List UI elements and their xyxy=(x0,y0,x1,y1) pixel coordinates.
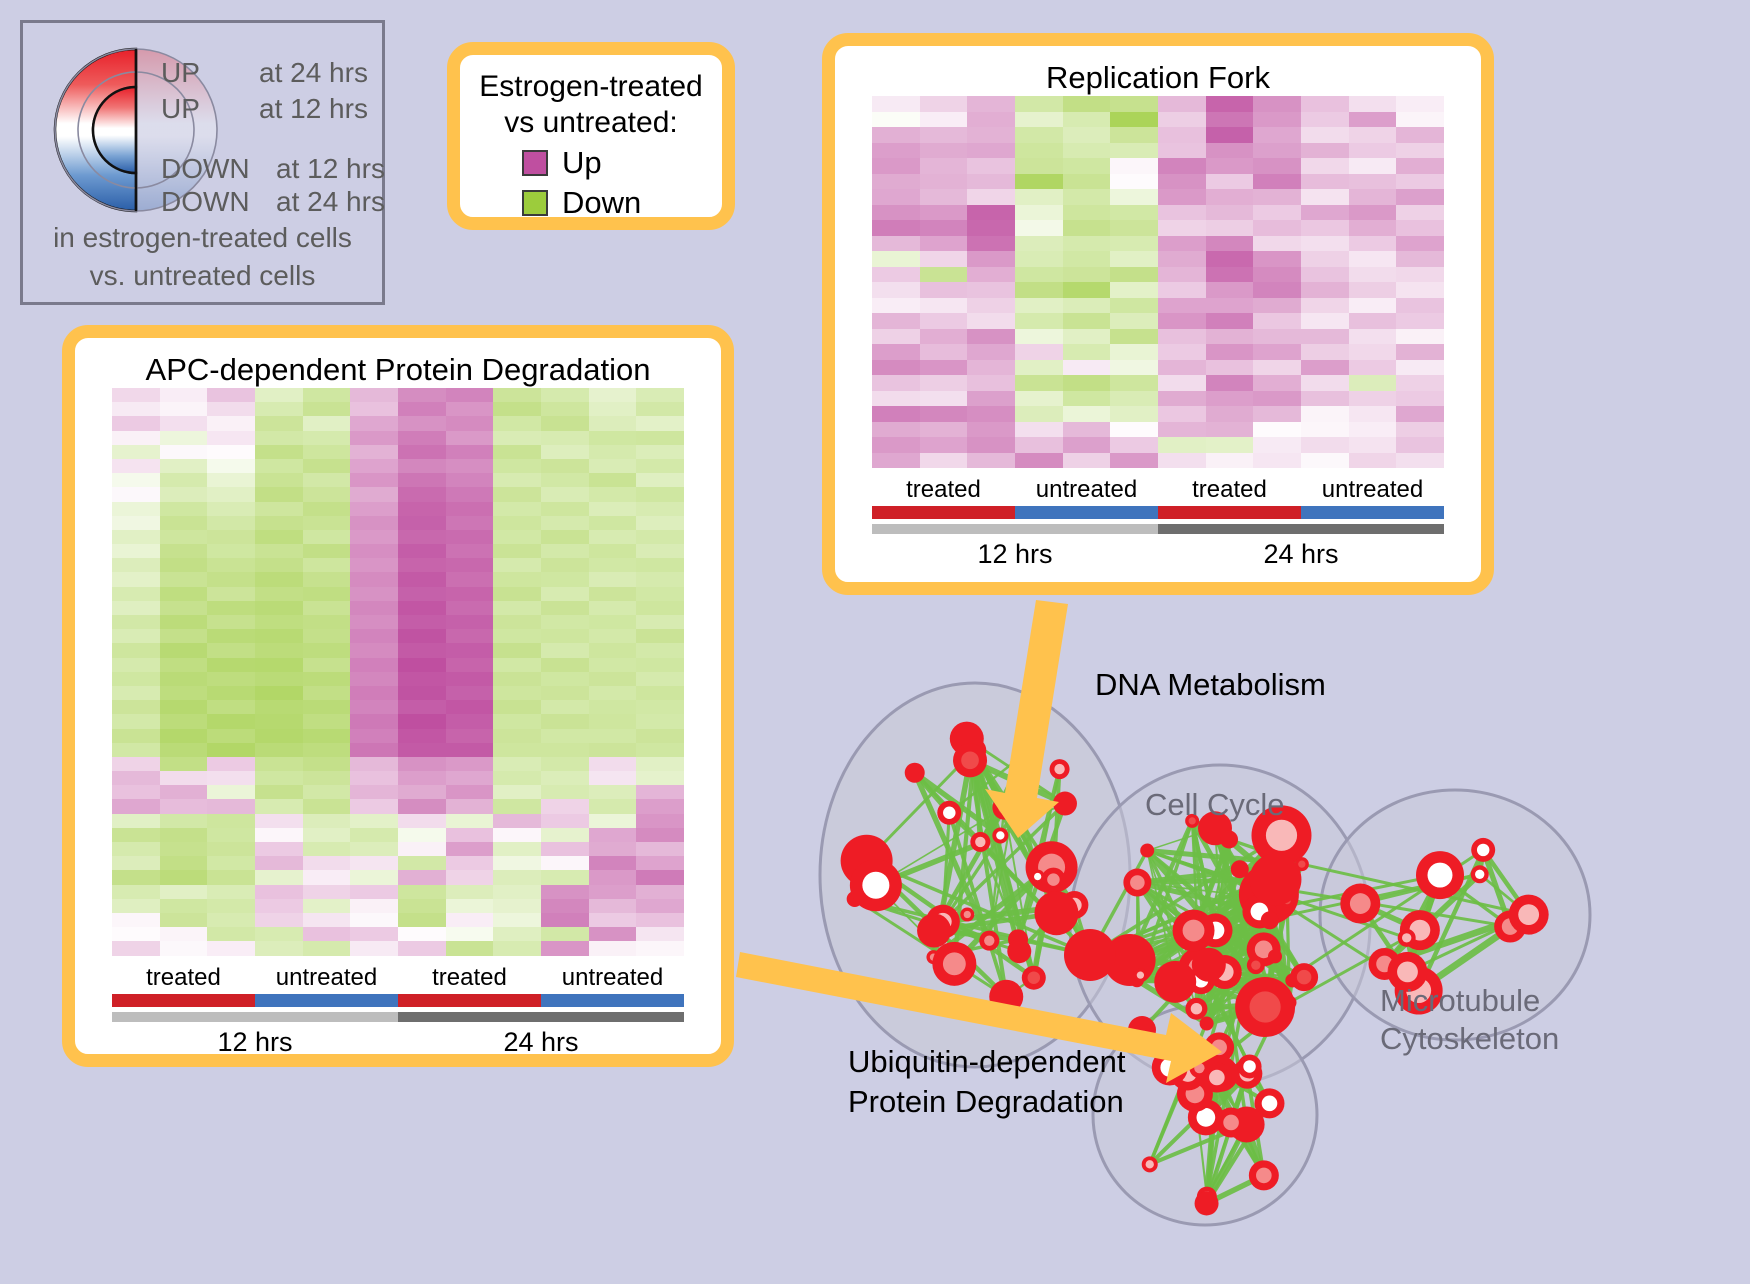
group-label: treated xyxy=(872,476,1015,504)
network-node xyxy=(1200,1017,1214,1031)
heatmap-cell xyxy=(1158,453,1206,469)
heatmap-cell xyxy=(303,799,351,813)
heatmap-cell xyxy=(589,530,637,544)
heatmap-cell xyxy=(255,658,303,672)
treatment-bar-apc xyxy=(112,994,684,1007)
heatmap-cell xyxy=(303,502,351,516)
heatmap-cell xyxy=(493,643,541,657)
heatmap-cell xyxy=(493,856,541,870)
heatmap-cell xyxy=(446,473,494,487)
heatmap-cell xyxy=(446,445,494,459)
heatmap-cell xyxy=(541,771,589,785)
heatmap-cell xyxy=(1063,143,1111,159)
heatmap-cell xyxy=(398,530,446,544)
heatmap-cell xyxy=(350,473,398,487)
heatmap-cell xyxy=(1206,329,1254,345)
heatmap-cell xyxy=(589,885,637,899)
heatmap-cell xyxy=(872,453,920,469)
network-node xyxy=(1053,792,1077,816)
heatmap-cell xyxy=(207,885,255,899)
heatmap-cell xyxy=(1301,220,1349,236)
heatmap-cell xyxy=(1396,344,1444,360)
heatmap-cell xyxy=(1396,189,1444,205)
heatmap-cell xyxy=(160,771,208,785)
heatmap-cell xyxy=(1206,282,1254,298)
network-node-core xyxy=(984,935,994,945)
heatmap-cell xyxy=(112,431,160,445)
network-node xyxy=(1140,844,1154,858)
heatmap-cell xyxy=(255,714,303,728)
heatmap-cell xyxy=(398,544,446,558)
heatmap-cell xyxy=(1301,391,1349,407)
heatmap-cell xyxy=(636,459,684,473)
heatmap-cell xyxy=(160,516,208,530)
heatmap-cell xyxy=(872,112,920,128)
heatmap-cell xyxy=(350,587,398,601)
heatmap-cell xyxy=(398,388,446,402)
heatmap-cell xyxy=(255,729,303,743)
heatmap-cell xyxy=(493,502,541,516)
heatmap-cell xyxy=(1206,267,1254,283)
heatmap-cell xyxy=(160,899,208,913)
heatmap-cell xyxy=(398,473,446,487)
heatmap-cell xyxy=(1301,112,1349,128)
panel-replication-fork: Replication Fork treateduntreatedtreated… xyxy=(822,33,1494,595)
heatmap-cell xyxy=(1301,127,1349,143)
heatmap-cell xyxy=(350,941,398,955)
heatmap-cell xyxy=(589,431,637,445)
heatmap-cell xyxy=(1063,329,1111,345)
network-node xyxy=(1015,748,1031,764)
heatmap-cell xyxy=(160,601,208,615)
heatmap-cell xyxy=(1301,344,1349,360)
heatmap-cell xyxy=(1349,205,1397,221)
heatmap-cell xyxy=(255,473,303,487)
heatmap-cell xyxy=(112,544,160,558)
heatmap-cell xyxy=(160,686,208,700)
heatmap-cell xyxy=(446,516,494,530)
heatmap-cell xyxy=(1206,344,1254,360)
heatmap-cell xyxy=(207,572,255,586)
heatmap-cell xyxy=(589,729,637,743)
heatmap-cell xyxy=(160,785,208,799)
heatmap-cell xyxy=(350,927,398,941)
heatmap-cell xyxy=(1206,205,1254,221)
heatmap-cell xyxy=(1110,329,1158,345)
cluster-label-ubiquitin-line1: Ubiquitin-dependent xyxy=(848,1042,1126,1082)
heatmap-cell xyxy=(1206,453,1254,469)
heatmap-cell xyxy=(112,885,160,899)
heatmap-cell xyxy=(112,686,160,700)
heatmap-cell xyxy=(1349,406,1397,422)
heatmap-cell xyxy=(1396,329,1444,345)
heatmap-cell xyxy=(350,643,398,657)
heatmap-cell xyxy=(1158,251,1206,267)
heatmap-cell xyxy=(255,629,303,643)
heatmap-cell xyxy=(1063,267,1111,283)
heatmap-cell xyxy=(636,757,684,771)
heatmap-cell xyxy=(1396,205,1444,221)
network-node-core xyxy=(943,807,955,819)
heatmap-cell xyxy=(207,487,255,501)
heatmap-cell xyxy=(1301,453,1349,469)
heatmap-cell xyxy=(160,530,208,544)
heatmap-cell xyxy=(920,158,968,174)
heatmap-cell xyxy=(303,856,351,870)
heatmap-cell xyxy=(920,391,968,407)
heatmap-cell xyxy=(589,459,637,473)
heatmap-cell xyxy=(636,941,684,955)
treatment-bar-segment xyxy=(1158,506,1301,519)
heatmap-cell xyxy=(541,828,589,842)
heatmap-cell xyxy=(398,558,446,572)
heatmap-cell xyxy=(920,329,968,345)
heatmap-cell xyxy=(350,814,398,828)
heatmap-cell xyxy=(207,941,255,955)
network-node-core xyxy=(1191,1003,1202,1014)
network-node-core xyxy=(1130,875,1145,890)
heatmap-cell xyxy=(541,445,589,459)
heatmap-cell xyxy=(112,714,160,728)
heatmap-cell xyxy=(1158,437,1206,453)
heatmap-cell xyxy=(350,388,398,402)
heatmap-cell xyxy=(112,743,160,757)
heatmap-cell xyxy=(1253,422,1301,438)
heatmap-cell xyxy=(872,422,920,438)
heatmap-cell xyxy=(207,870,255,884)
heatmap-cell xyxy=(303,899,351,913)
heatmap-cell xyxy=(1396,298,1444,314)
heatmap-cell xyxy=(872,127,920,143)
heatmap-cell xyxy=(160,729,208,743)
heatmap-cell xyxy=(589,658,637,672)
heatmap-cell xyxy=(636,927,684,941)
heatmap-cell xyxy=(1253,298,1301,314)
heatmap-cell xyxy=(493,615,541,629)
heatmap-cell xyxy=(112,558,160,572)
network-node-core xyxy=(996,831,1004,839)
heatmap-cell xyxy=(207,587,255,601)
heatmap-cell xyxy=(350,615,398,629)
heatmap-cell xyxy=(872,298,920,314)
heatmap-cell xyxy=(398,941,446,955)
network-node-core xyxy=(1477,844,1489,856)
heatmap-cell xyxy=(1253,282,1301,298)
heatmap-cell xyxy=(967,282,1015,298)
heatmap-cell xyxy=(1253,158,1301,174)
heatmap-cell xyxy=(112,799,160,813)
heatmap-cell xyxy=(1206,143,1254,159)
network-node-core xyxy=(1402,933,1411,942)
heatmap-cell xyxy=(1396,112,1444,128)
timepoint-label: 12 hrs xyxy=(872,539,1158,570)
heatmap-cell xyxy=(398,629,446,643)
heatmap-cell xyxy=(1158,313,1206,329)
heatmap-cell xyxy=(255,502,303,516)
network-node-core xyxy=(975,837,985,847)
heatmap-cell xyxy=(872,143,920,159)
heatmap-cell xyxy=(207,388,255,402)
heatmap-cell xyxy=(398,402,446,416)
heatmap-cell xyxy=(207,785,255,799)
heatmap-cell xyxy=(1253,127,1301,143)
heatmap-cell xyxy=(541,672,589,686)
heatmap-cell xyxy=(1110,251,1158,267)
heatmap-cell xyxy=(872,96,920,112)
heatmap-cell xyxy=(160,445,208,459)
heatmap-cell xyxy=(493,870,541,884)
heatmap-cell xyxy=(541,587,589,601)
heatmap-cell xyxy=(541,927,589,941)
heatmap-cell xyxy=(1206,174,1254,190)
heatmap-cell xyxy=(398,416,446,430)
heatmap-cell xyxy=(350,870,398,884)
heatmap-cell xyxy=(303,686,351,700)
heatmap-cell xyxy=(112,402,160,416)
heatmap-cell xyxy=(446,714,494,728)
heatmap-cell xyxy=(493,516,541,530)
heatmap-cell xyxy=(303,445,351,459)
heatmap-cell xyxy=(1206,391,1254,407)
network-node-core xyxy=(1243,1060,1255,1072)
heatmap-cell xyxy=(446,941,494,955)
heatmap-cell xyxy=(872,406,920,422)
heatmap-cell xyxy=(1253,220,1301,236)
heatmap-cell xyxy=(967,236,1015,252)
legend-title-line1: Estrogen-treated xyxy=(460,69,722,105)
heatmap-cell xyxy=(1015,437,1063,453)
heatmap-cell xyxy=(589,672,637,686)
heatmap-cell xyxy=(207,530,255,544)
heatmap-cell xyxy=(636,544,684,558)
network-node-core xyxy=(1350,893,1371,914)
heatmap-cell xyxy=(967,453,1015,469)
heatmap-cell xyxy=(112,941,160,955)
heatmap-cell xyxy=(160,487,208,501)
heatmap-cell xyxy=(1063,282,1111,298)
heatmap-cell xyxy=(636,445,684,459)
heatmap-cell xyxy=(207,700,255,714)
heatmap-cell xyxy=(1015,313,1063,329)
schematic-time-down-24: at 24 hrs xyxy=(276,186,385,218)
heatmap-cell xyxy=(1110,422,1158,438)
network-node-core xyxy=(862,872,889,899)
heatmap-cell xyxy=(112,445,160,459)
heatmap-cell xyxy=(589,558,637,572)
heatmap-cell xyxy=(303,913,351,927)
pathway-network-diagram: DNA Metabolism Cell Cycle Microtubule Cy… xyxy=(790,610,1750,1279)
heatmap-cell xyxy=(446,629,494,643)
heatmap-cell xyxy=(350,885,398,899)
treatment-bar-segment xyxy=(1015,506,1158,519)
heatmap-cell xyxy=(350,416,398,430)
heatmap-cell xyxy=(1206,158,1254,174)
heatmap-cell xyxy=(493,572,541,586)
heatmap-cell xyxy=(446,558,494,572)
group-label: untreated xyxy=(541,964,684,992)
heatmap-cell xyxy=(967,127,1015,143)
heatmap-cell xyxy=(207,771,255,785)
cluster-label-dna-metabolism: DNA Metabolism xyxy=(1095,667,1326,703)
heatmap-cell xyxy=(160,885,208,899)
heatmap-cell xyxy=(350,686,398,700)
schematic-key-up-24: UP xyxy=(161,57,200,89)
heatmap-cell xyxy=(920,437,968,453)
heatmap-cell xyxy=(160,828,208,842)
heatmap-cell xyxy=(493,743,541,757)
heatmap-cell xyxy=(255,431,303,445)
heatmap-cell xyxy=(1301,251,1349,267)
heatmap-cell xyxy=(1253,329,1301,345)
heatmap-cell xyxy=(1158,267,1206,283)
heatmap-cell xyxy=(1063,112,1111,128)
heatmap-cell xyxy=(398,502,446,516)
heatmap-cell xyxy=(350,714,398,728)
heatmap-cell xyxy=(255,587,303,601)
heatmap-cell xyxy=(967,267,1015,283)
heatmap-cell xyxy=(1349,236,1397,252)
heatmap-cell xyxy=(446,388,494,402)
heatmap-cell xyxy=(446,402,494,416)
heatmap-cell xyxy=(398,714,446,728)
color-legend-panel: Estrogen-treated vs untreated: Up Down xyxy=(447,42,735,230)
heatmap-cell xyxy=(636,686,684,700)
heatmap-cell xyxy=(350,785,398,799)
timepoint-labels-replication-fork: 12 hrs24 hrs xyxy=(872,534,1444,570)
heatmap-replication-fork xyxy=(872,96,1444,468)
heatmap-cell xyxy=(541,643,589,657)
heatmap-cell xyxy=(112,828,160,842)
heatmap-cell xyxy=(1015,453,1063,469)
heatmap-cell xyxy=(255,601,303,615)
heatmap-cell xyxy=(1158,391,1206,407)
heatmap-cell xyxy=(350,771,398,785)
heatmap-cell xyxy=(1206,189,1254,205)
heatmap-cell xyxy=(350,516,398,530)
heatmap-cell xyxy=(1063,96,1111,112)
heatmap-cell xyxy=(207,842,255,856)
cluster-label-microtubule-line1: Microtubule xyxy=(1380,982,1559,1020)
treatment-bar-segment xyxy=(112,994,255,1007)
schematic-time-up-24: at 24 hrs xyxy=(259,57,368,89)
heatmap-cell xyxy=(872,267,920,283)
heatmap-cell xyxy=(1349,127,1397,143)
heatmap-cell xyxy=(1015,220,1063,236)
heatmap-cell xyxy=(1110,143,1158,159)
heatmap-cell xyxy=(112,870,160,884)
heatmap-cell xyxy=(303,714,351,728)
heatmap-cell xyxy=(541,558,589,572)
heatmap-cell xyxy=(1396,267,1444,283)
heatmap-cell xyxy=(160,757,208,771)
heatmap-cell xyxy=(967,406,1015,422)
heatmap-cell xyxy=(872,205,920,221)
heatmap-cell xyxy=(1396,174,1444,190)
heatmap-cell xyxy=(303,530,351,544)
network-node xyxy=(1064,929,1116,981)
heatmap-cell xyxy=(255,402,303,416)
heatmap-cell xyxy=(398,686,446,700)
heatmap-cell xyxy=(493,544,541,558)
heatmap-cell xyxy=(872,236,920,252)
heatmap-cell xyxy=(255,572,303,586)
timepoint-labels-apc: 12 hrs24 hrs xyxy=(112,1022,684,1058)
heatmap-cell xyxy=(541,729,589,743)
heatmap-cell xyxy=(967,205,1015,221)
heatmap-cell xyxy=(1110,453,1158,469)
heatmap-cell xyxy=(1158,329,1206,345)
heatmap-cell xyxy=(112,487,160,501)
heatmap-cell xyxy=(541,842,589,856)
heatmap-cell xyxy=(1015,282,1063,298)
heatmap-cell xyxy=(967,112,1015,128)
heatmap-cell xyxy=(446,601,494,615)
heatmap-cell xyxy=(541,885,589,899)
heatmap-cell xyxy=(303,743,351,757)
heatmap-cell xyxy=(541,516,589,530)
heatmap-cell xyxy=(350,913,398,927)
heatmap-cell xyxy=(1110,437,1158,453)
heatmap-cell xyxy=(541,785,589,799)
heatmap-cell xyxy=(493,487,541,501)
heatmap-cell xyxy=(920,282,968,298)
legend-swatch-down xyxy=(522,190,548,216)
heatmap-cell xyxy=(160,473,208,487)
heatmap-cell xyxy=(636,530,684,544)
heatmap-cell xyxy=(967,174,1015,190)
timepoint-bar-segment xyxy=(872,524,1158,534)
heatmap-cell xyxy=(303,842,351,856)
heatmap-cell xyxy=(1301,282,1349,298)
heatmap-cell xyxy=(112,927,160,941)
heatmap-cell xyxy=(872,189,920,205)
heatmap-cell xyxy=(589,757,637,771)
heatmap-cell xyxy=(589,941,637,955)
heatmap-cell xyxy=(303,572,351,586)
heatmap-cell xyxy=(446,459,494,473)
heatmap-cell xyxy=(872,313,920,329)
heatmap-cell xyxy=(967,437,1015,453)
heatmap-cell xyxy=(493,587,541,601)
heatmap-cell xyxy=(1349,174,1397,190)
heatmap-cell xyxy=(589,615,637,629)
heatmap-cell xyxy=(446,870,494,884)
heatmap-cell xyxy=(636,629,684,643)
heatmap-cell xyxy=(303,402,351,416)
heatmap-cell xyxy=(112,672,160,686)
heatmap-cell xyxy=(1015,298,1063,314)
heatmap-cell xyxy=(350,700,398,714)
heatmap-cell xyxy=(541,459,589,473)
heatmap-cell xyxy=(303,416,351,430)
heatmap-cell xyxy=(112,473,160,487)
heatmap-cell xyxy=(160,416,208,430)
heatmap-cell xyxy=(160,544,208,558)
network-node-core xyxy=(1054,764,1064,774)
group-label: treated xyxy=(1158,476,1301,504)
heatmap-cell xyxy=(350,672,398,686)
heatmap-cell xyxy=(541,941,589,955)
heatmap-cell xyxy=(541,402,589,416)
heatmap-cell xyxy=(541,714,589,728)
heatmap-cell xyxy=(872,344,920,360)
heatmap-cell xyxy=(493,388,541,402)
heatmap-cell xyxy=(1301,406,1349,422)
heatmap-cell xyxy=(207,686,255,700)
heatmap-cell xyxy=(350,658,398,672)
heatmap-cell xyxy=(303,516,351,530)
network-node-core xyxy=(998,802,1010,814)
